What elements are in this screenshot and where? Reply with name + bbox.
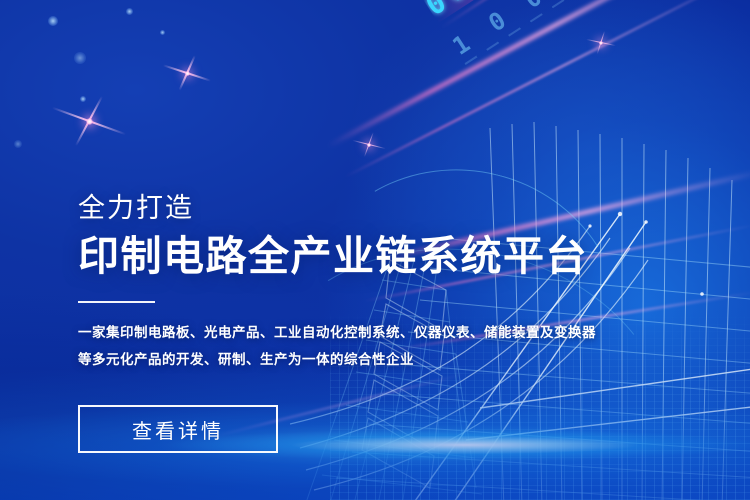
hero-banner: 1 001 101 1 0010 1 01 01 1001 01 1 001 0… bbox=[0, 0, 750, 500]
background-dot bbox=[14, 140, 22, 148]
sparkle-star bbox=[368, 144, 370, 146]
hero-text-block: 全力打造 印制电路全产业链系统平台 一家集印制电路板、光电产品、工业自动化控制系… bbox=[78, 186, 638, 373]
hero-description: 一家集印制电路板、光电产品、工业自动化控制系统、仪器仪表、储能装置及变换器 等多… bbox=[78, 319, 638, 373]
view-details-button-label: 查看详情 bbox=[132, 415, 224, 444]
background-dot bbox=[126, 8, 133, 15]
hero-divider bbox=[78, 301, 155, 303]
view-details-button[interactable]: 查看详情 bbox=[78, 405, 278, 453]
sparkle-star bbox=[600, 42, 602, 44]
sparkle-star bbox=[88, 120, 90, 122]
background-dot bbox=[160, 30, 165, 35]
background-dot bbox=[80, 96, 86, 102]
sparkle-star bbox=[186, 72, 188, 74]
hero-description-line-2: 等多元化产品的开发、研制、生产为一体的综合性企业 bbox=[78, 346, 638, 373]
hero-description-line-1: 一家集印制电路板、光电产品、工业自动化控制系统、仪器仪表、储能装置及变换器 bbox=[78, 319, 638, 346]
hero-eyebrow: 全力打造 bbox=[78, 186, 638, 225]
hero-headline: 印制电路全产业链系统平台 bbox=[78, 234, 638, 278]
binary-strip: 1 0 01 101 0 01 1 bbox=[446, 0, 750, 63]
background-dot bbox=[74, 52, 86, 64]
background-dot bbox=[48, 16, 58, 26]
